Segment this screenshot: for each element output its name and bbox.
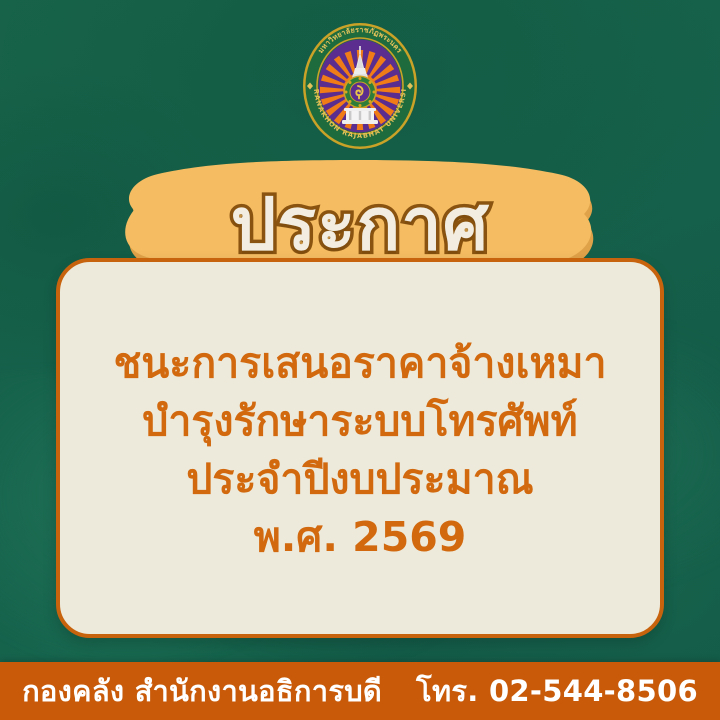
banner-title: ประกาศ bbox=[108, 182, 612, 266]
footer-contact-bar: กองคลัง สำนักงานอธิการบดี โทร. 02-544-85… bbox=[0, 662, 720, 720]
announcement-line-2: บำรุงรักษาระบบโทรศัพท์ bbox=[88, 392, 632, 450]
announcement-card: ชนะการเสนอราคาจ้างเหมา บำรุงรักษาระบบโทร… bbox=[56, 258, 664, 638]
pedestal-icon bbox=[342, 108, 378, 124]
announcement-line-3: ประจำปีงบประมาณ bbox=[88, 450, 632, 508]
university-seal-icon: มหาวิทยาลัยราชภัฏพระนคร PHRANAKHON RAJAB… bbox=[296, 16, 424, 152]
footer-phone[interactable]: โทร. 02-544-8506 bbox=[416, 674, 698, 708]
announcement-poster: มหาวิทยาลัยราชภัฏพระนคร PHRANAKHON RAJAB… bbox=[0, 0, 720, 720]
footer-department: กองคลัง สำนักงานอธิการบดี bbox=[22, 674, 382, 708]
announcement-line-4: พ.ศ. 2569 bbox=[88, 508, 632, 566]
university-seal: มหาวิทยาลัยราชภัฏพระนคร PHRANAKHON RAJAB… bbox=[296, 16, 424, 152]
announcement-line-1: ชนะการเสนอราคาจ้างเหมา bbox=[88, 334, 632, 392]
announcement-text-block: ชนะการเสนอราคาจ้างเหมา บำรุงรักษาระบบโทร… bbox=[60, 334, 660, 566]
